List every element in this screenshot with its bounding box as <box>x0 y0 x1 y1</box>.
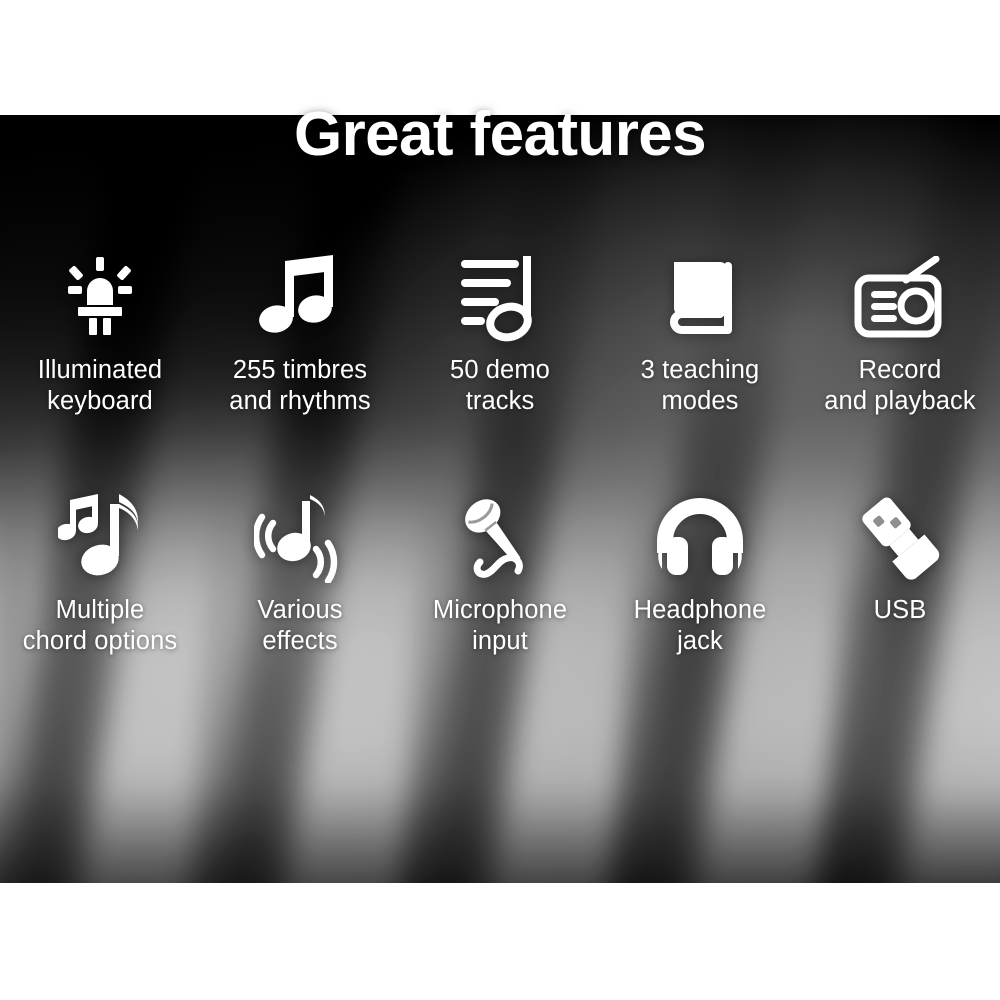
radio-icon <box>854 250 946 346</box>
feature-usb[interactable]: USB <box>800 490 1000 658</box>
feature-label: Illuminatedkeyboard <box>38 355 162 418</box>
feature-record-playback[interactable]: Recordand playback <box>800 250 1000 418</box>
feature-headphone-jack[interactable]: Headphonejack <box>600 490 800 658</box>
feature-row-bottom: Multiplechord options <box>0 490 1000 658</box>
feature-label: Multiplechord options <box>23 595 177 658</box>
feature-various-effects[interactable]: Variouseffects <box>200 490 400 658</box>
feature-row-top: Illuminatedkeyboard 255 timbresan <box>0 250 1000 418</box>
headphones-icon <box>654 490 746 586</box>
feature-panel: Great features <box>0 0 1000 1000</box>
feature-illuminated-keyboard[interactable]: Illuminatedkeyboard <box>0 250 200 418</box>
feature-timbres-rhythms[interactable]: 255 timbresand rhythms <box>200 250 400 418</box>
feature-label: Headphonejack <box>634 595 767 658</box>
feature-label: 3 teachingmodes <box>641 355 760 418</box>
feature-label: Recordand playback <box>824 355 975 418</box>
page-title: Great features <box>0 104 1000 166</box>
feature-label: Microphoneinput <box>433 595 567 658</box>
music-notes-icon <box>259 250 341 346</box>
chord-notes-icon <box>58 490 142 586</box>
demo-track-icon <box>457 250 543 346</box>
feature-microphone-input[interactable]: Microphoneinput <box>400 490 600 658</box>
feature-label: USB <box>874 595 927 626</box>
led-light-icon <box>61 250 139 346</box>
book-icon <box>658 250 742 346</box>
feature-label: Variouseffects <box>257 595 342 658</box>
feature-label: 255 timbresand rhythms <box>229 355 370 418</box>
usb-plug-icon <box>854 490 946 586</box>
microphone-icon <box>452 490 548 586</box>
feature-label: 50 demotracks <box>450 355 550 418</box>
feature-teaching-modes[interactable]: 3 teachingmodes <box>600 250 800 418</box>
feature-chord-options[interactable]: Multiplechord options <box>0 490 200 658</box>
note-waves-icon <box>254 490 346 586</box>
feature-demo-tracks[interactable]: 50 demotracks <box>400 250 600 418</box>
